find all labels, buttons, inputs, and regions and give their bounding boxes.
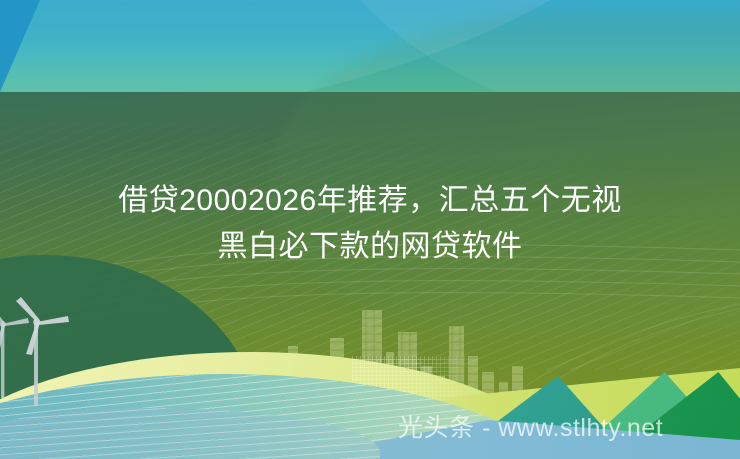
watermark-text: 光头条 - www.stlhty.net xyxy=(398,414,663,442)
article-banner-image: 借贷20002026年推荐，汇总五个无视 黑白必下款的网贷软件 光头条 - ww… xyxy=(0,0,740,459)
wind-turbine-icon xyxy=(2,296,72,406)
banner-headline: 借贷20002026年推荐，汇总五个无视 黑白必下款的网贷软件 xyxy=(0,178,740,270)
